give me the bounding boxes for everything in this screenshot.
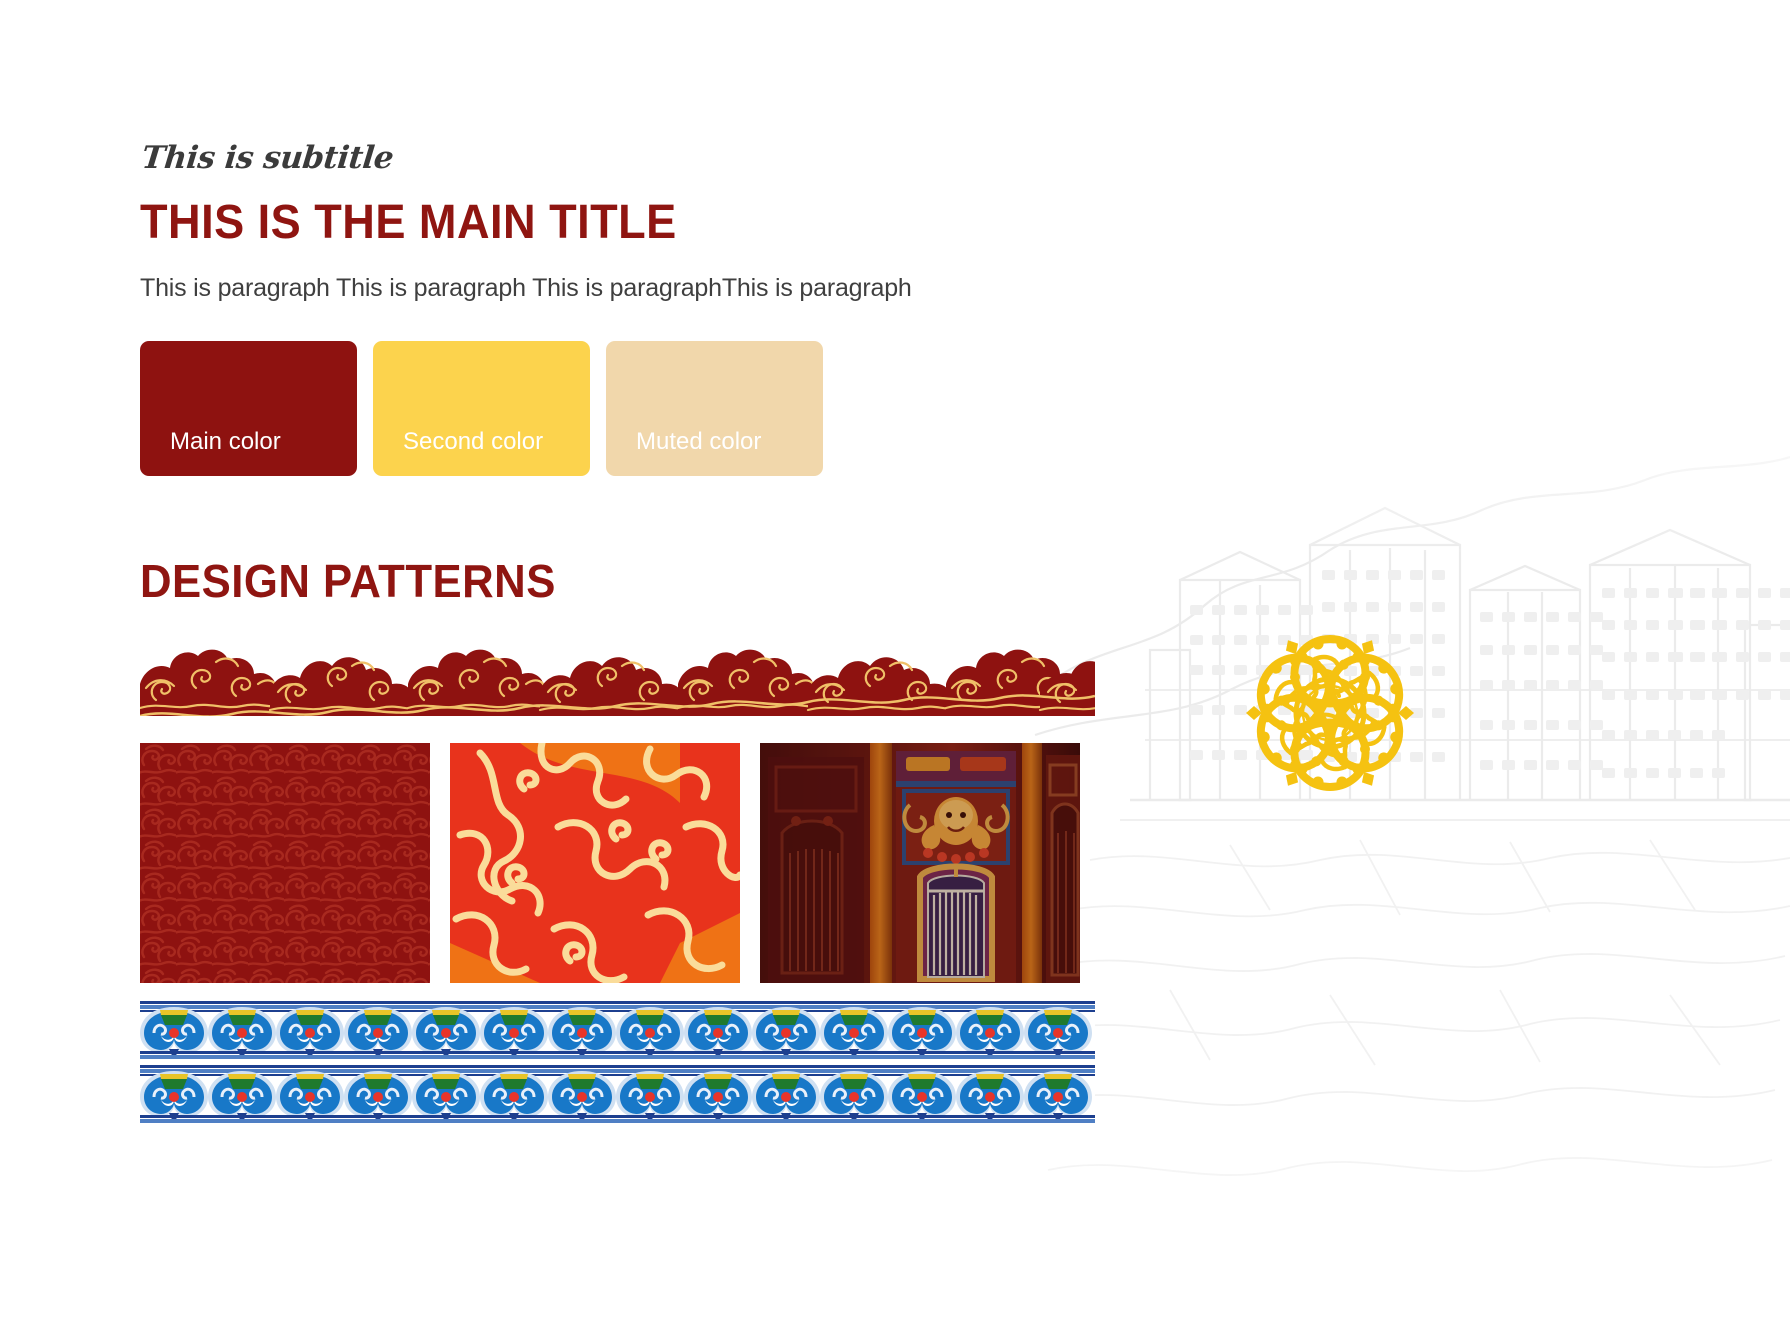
intro-paragraph: This is paragraph This is paragraph This… [140, 248, 1140, 303]
swatch-label: Main color [170, 428, 281, 456]
swatch-label: Second color [403, 428, 543, 456]
pattern-tile-red-cloud[interactable] [140, 743, 430, 983]
page-title: THIS IS THE MAIN TITLE [140, 176, 1080, 248]
pattern-tile-temple-pillars[interactable] [760, 743, 1080, 983]
color-palette: Main color Second color Muted color [140, 303, 1140, 476]
gold-lotus-mandala-emblem [1200, 595, 1460, 835]
blue-border-band-bottom [140, 1065, 1095, 1123]
swatch-muted-color[interactable]: Muted color [606, 341, 823, 476]
blue-border-band-top [140, 1001, 1095, 1059]
swatch-second-color[interactable]: Second color [373, 341, 590, 476]
pattern-tile-row [140, 743, 1140, 983]
slide-content: This is subtitle THIS IS THE MAIN TITLE … [140, 0, 1140, 1123]
design-patterns-title: DESIGN PATTERNS [140, 476, 1090, 608]
swatch-label: Muted color [636, 428, 761, 456]
swatch-main-color[interactable]: Main color [140, 341, 357, 476]
cloud-border-banner [140, 644, 1095, 716]
subtitle: This is subtitle [140, 0, 1158, 176]
pattern-tile-flame-cloud[interactable] [450, 743, 740, 983]
blue-border-group [140, 1001, 1095, 1123]
potala-palace-watermark [1030, 390, 1790, 1290]
